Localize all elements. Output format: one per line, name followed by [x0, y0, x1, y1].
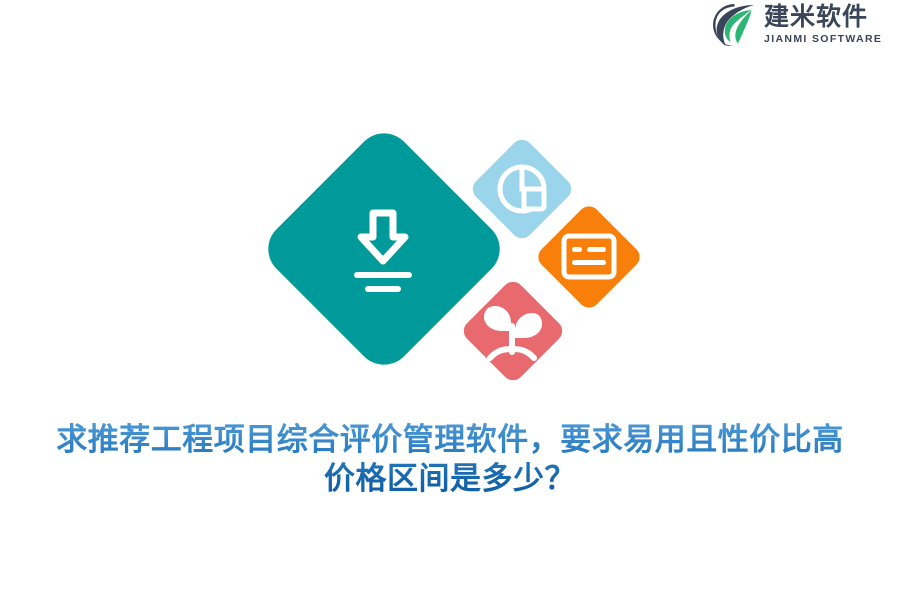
brand-text: 建米软件 JIANMI SOFTWARE [764, 5, 882, 45]
sprout-tile [459, 277, 566, 384]
brand-logo: 建米软件 JIANMI SOFTWARE [710, 0, 900, 50]
id-card-tile [534, 202, 640, 312]
brand-name-en: JIANMI SOFTWARE [764, 34, 882, 45]
hero-illustration [250, 115, 640, 390]
brand-name-cn: 建米软件 [764, 5, 882, 30]
page-title: 求推荐工程项目综合评价管理软件，要求易用且性价比高 价格区间是多少？ [0, 420, 900, 498]
jianmi-logo-mark-icon [710, 2, 758, 48]
